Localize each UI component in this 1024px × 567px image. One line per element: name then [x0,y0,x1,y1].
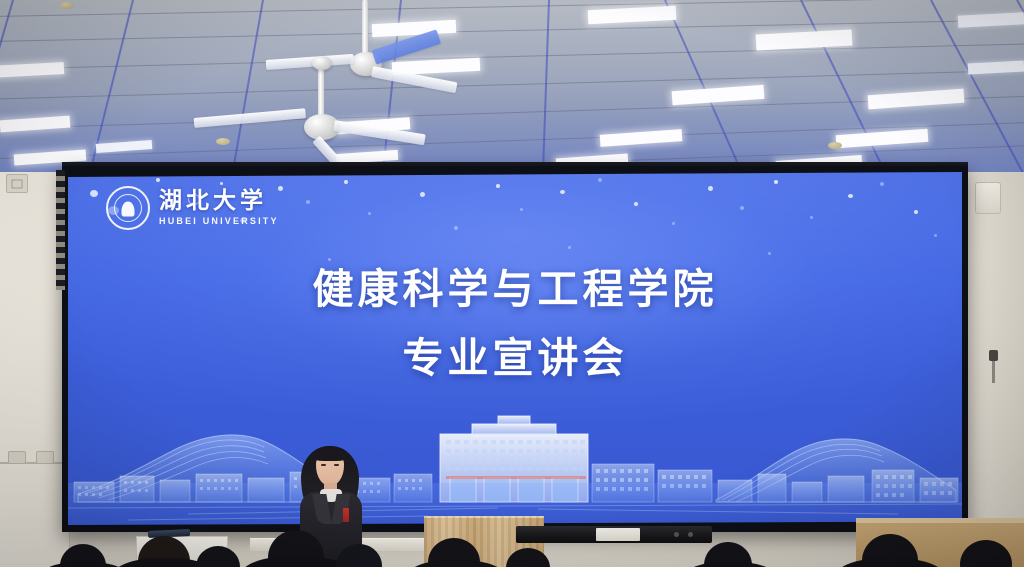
slide-heading-group: 健康科学与工程学院 专业宣讲会 [68,268,962,380]
slide-particle [496,184,500,188]
slide-particle [156,178,160,182]
fan-downrod [362,0,368,58]
university-logo: 湖北大学 HUBEI UNIVERSITY [106,186,279,230]
presenter-eye [321,464,326,466]
university-emblem-icon [106,186,150,230]
ceiling-fan-lower [250,56,470,172]
slide-particle [740,206,744,210]
screen-side-strip [56,170,65,290]
university-name-cn: 湖北大学 [159,190,279,213]
wall-outlet-left[interactable] [8,451,26,464]
slide-particle [708,186,713,191]
slide-particle [328,258,331,261]
console-panel[interactable] [596,528,640,541]
slide-particle [634,202,638,206]
slide-particle [672,222,675,225]
slide-particle [306,200,310,204]
smoke-detector-icon [60,2,74,9]
slide-particle [520,208,523,211]
ceiling [0,0,1024,172]
console-button[interactable] [674,532,679,537]
wall-sensor-stem [992,361,995,383]
smoke-detector-icon [216,138,230,145]
slide-particle [420,192,425,197]
slide-particle [810,216,813,219]
wall-switch-plate[interactable] [6,174,28,193]
smoke-detector-icon [828,142,842,149]
slide-particle [768,252,771,255]
slide-particle [560,190,565,194]
slide-particle [914,210,918,214]
wall-outlet-right[interactable] [36,451,54,464]
slide-particle [220,182,223,185]
slide-particle [598,178,602,182]
fan-blade [333,120,426,145]
university-name-en: HUBEI UNIVERSITY [159,217,279,226]
slide-particle [278,186,283,191]
slide-particle [368,212,371,215]
slide-particle [934,234,937,237]
presenter-eye [334,464,339,466]
wall-speaker-box [975,182,1001,214]
campus-skyline-art [68,390,962,525]
presenter-badge [343,508,349,522]
switch-glyph-icon [12,179,23,188]
slide-subtitle: 专业宣讲会 [68,337,962,380]
right-desk-top-edge [856,518,1024,523]
wall-sensor-icon [989,350,998,361]
slide-particle [454,226,458,230]
slide-particle [880,182,884,186]
slide-particle [774,180,778,184]
slide-title: 健康科学与工程学院 [68,268,962,311]
slide-particle [344,180,348,184]
console-button[interactable] [688,532,693,537]
university-logo-text: 湖北大学 HUBEI UNIVERSITY [159,190,279,226]
slide-particle [568,246,571,249]
lecture-hall-scene: 湖北大学 HUBEI UNIVERSITY 健康科学与工程学院 专业宣讲会 [0,0,1024,567]
slide-particle [90,190,98,197]
fan-motor-top [312,56,332,70]
slide-particle [848,194,853,198]
presentation-slide[interactable]: 湖北大学 HUBEI UNIVERSITY 健康科学与工程学院 专业宣讲会 [68,172,962,525]
